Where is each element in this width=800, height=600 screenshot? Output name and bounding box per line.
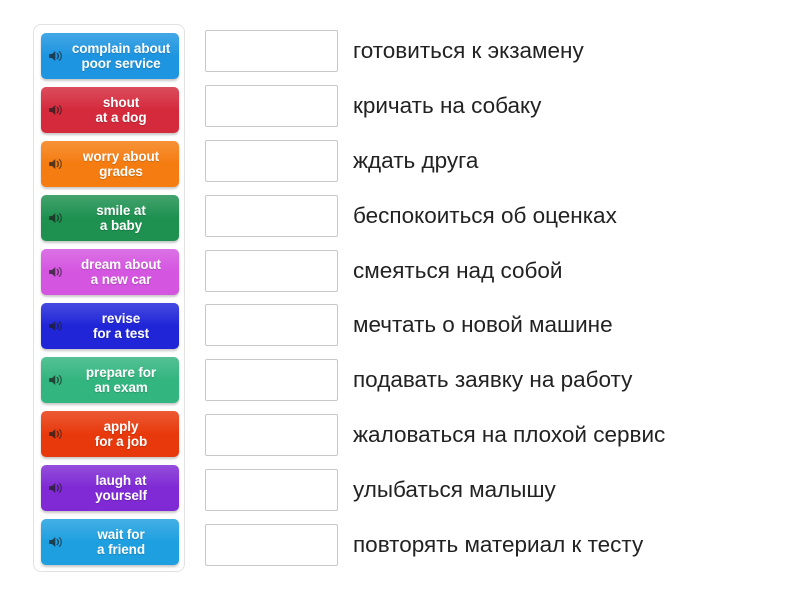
word-tile-label-line1: complain about (72, 41, 170, 56)
word-tile[interactable]: shoutat a dog (41, 87, 179, 133)
answer-prompt-text: подавать заявку на работу (353, 367, 632, 393)
answer-row: улыбаться малышу (205, 462, 795, 517)
speaker-icon[interactable] (48, 156, 64, 172)
speaker-icon[interactable] (48, 426, 64, 442)
answer-prompt-text: готовиться к экзамену (353, 38, 584, 64)
word-tile-label-line1: shout (103, 95, 139, 110)
answer-prompt-text: жаловаться на плохой сервис (353, 422, 665, 448)
word-tile-label: shoutat a dog (69, 95, 173, 125)
speaker-icon[interactable] (48, 264, 64, 280)
word-tile-bank: complain aboutpoor serviceshoutat a dogw… (33, 24, 185, 572)
speaker-icon[interactable] (48, 210, 64, 226)
answer-drop-box[interactable] (205, 524, 338, 566)
answer-prompt-text: улыбаться малышу (353, 477, 556, 503)
word-tile-label-line2: poor service (81, 56, 160, 71)
speaker-icon[interactable] (48, 534, 64, 550)
word-tile[interactable]: complain aboutpoor service (41, 33, 179, 79)
speaker-icon[interactable] (48, 372, 64, 388)
answer-row: кричать на собаку (205, 79, 795, 134)
word-tile[interactable]: laugh atyourself (41, 465, 179, 511)
word-tile-label-line1: apply (104, 419, 139, 434)
word-tile-label: revisefor a test (69, 311, 173, 341)
answer-drop-box[interactable] (205, 30, 338, 72)
word-tile-label-line1: revise (102, 311, 140, 326)
answer-row: готовиться к экзамену (205, 24, 795, 79)
word-tile[interactable]: wait fora friend (41, 519, 179, 565)
answer-prompt-text: смеяться над собой (353, 258, 562, 284)
word-tile-label-line2: yourself (95, 488, 147, 503)
word-tile-label: dream abouta new car (69, 257, 173, 287)
answer-drop-box[interactable] (205, 414, 338, 456)
answer-row-list: готовиться к экзаменукричать на собакужд… (205, 24, 795, 572)
answer-row: смеяться над собой (205, 243, 795, 298)
word-tile[interactable]: dream abouta new car (41, 249, 179, 295)
word-tile-label-line2: for a test (93, 326, 149, 341)
answer-drop-box[interactable] (205, 140, 338, 182)
word-tile-label: applyfor a job (69, 419, 173, 449)
answer-prompt-text: повторять материал к тесту (353, 532, 643, 558)
answer-drop-box[interactable] (205, 85, 338, 127)
word-tile-label-line2: grades (99, 164, 143, 179)
answer-row: ждать друга (205, 134, 795, 189)
word-tile[interactable]: revisefor a test (41, 303, 179, 349)
word-tile-label-line1: laugh at (96, 473, 147, 488)
speaker-icon[interactable] (48, 318, 64, 334)
answer-prompt-text: ждать друга (353, 148, 478, 174)
word-tile-label-line2: at a dog (96, 110, 147, 125)
answer-drop-box[interactable] (205, 304, 338, 346)
word-tile[interactable]: smile ata baby (41, 195, 179, 241)
matching-activity: complain aboutpoor serviceshoutat a dogw… (0, 0, 800, 600)
answer-row: повторять материал к тесту (205, 517, 795, 572)
word-tile-label-line2: a baby (100, 218, 142, 233)
answer-prompt-text: кричать на собаку (353, 93, 541, 119)
speaker-icon[interactable] (48, 480, 64, 496)
answer-drop-box[interactable] (205, 469, 338, 511)
word-tile[interactable]: prepare foran exam (41, 357, 179, 403)
word-tile-label: complain aboutpoor service (69, 41, 173, 71)
word-tile-label: laugh atyourself (69, 473, 173, 503)
word-tile[interactable]: applyfor a job (41, 411, 179, 457)
word-tile-label-line2: an exam (94, 380, 147, 395)
word-tile-label: prepare foran exam (69, 365, 173, 395)
word-tile-label-line1: prepare for (86, 365, 156, 380)
answer-drop-box[interactable] (205, 250, 338, 292)
word-tile-label-line1: dream about (81, 257, 161, 272)
word-tile-label: worry aboutgrades (69, 149, 173, 179)
word-tile-label-line2: for a job (95, 434, 147, 449)
word-tile-label-line1: wait for (97, 527, 144, 542)
word-tile-label-line1: smile at (96, 203, 145, 218)
speaker-icon[interactable] (48, 102, 64, 118)
answer-drop-box[interactable] (205, 359, 338, 401)
answer-prompt-text: мечтать о новой машине (353, 312, 613, 338)
word-tile-label-line1: worry about (83, 149, 159, 164)
word-tile-label: wait fora friend (69, 527, 173, 557)
answer-drop-box[interactable] (205, 195, 338, 237)
speaker-icon[interactable] (48, 48, 64, 64)
answer-row: подавать заявку на работу (205, 353, 795, 408)
answer-row: жаловаться на плохой сервис (205, 408, 795, 463)
answer-row: мечтать о новой машине (205, 298, 795, 353)
word-tile-label-line2: a friend (97, 542, 145, 557)
word-tile-label-line2: a new car (91, 272, 152, 287)
word-tile-label: smile ata baby (69, 203, 173, 233)
answer-prompt-text: беспокоиться об оценках (353, 203, 617, 229)
answer-row: беспокоиться об оценках (205, 188, 795, 243)
word-tile[interactable]: worry aboutgrades (41, 141, 179, 187)
